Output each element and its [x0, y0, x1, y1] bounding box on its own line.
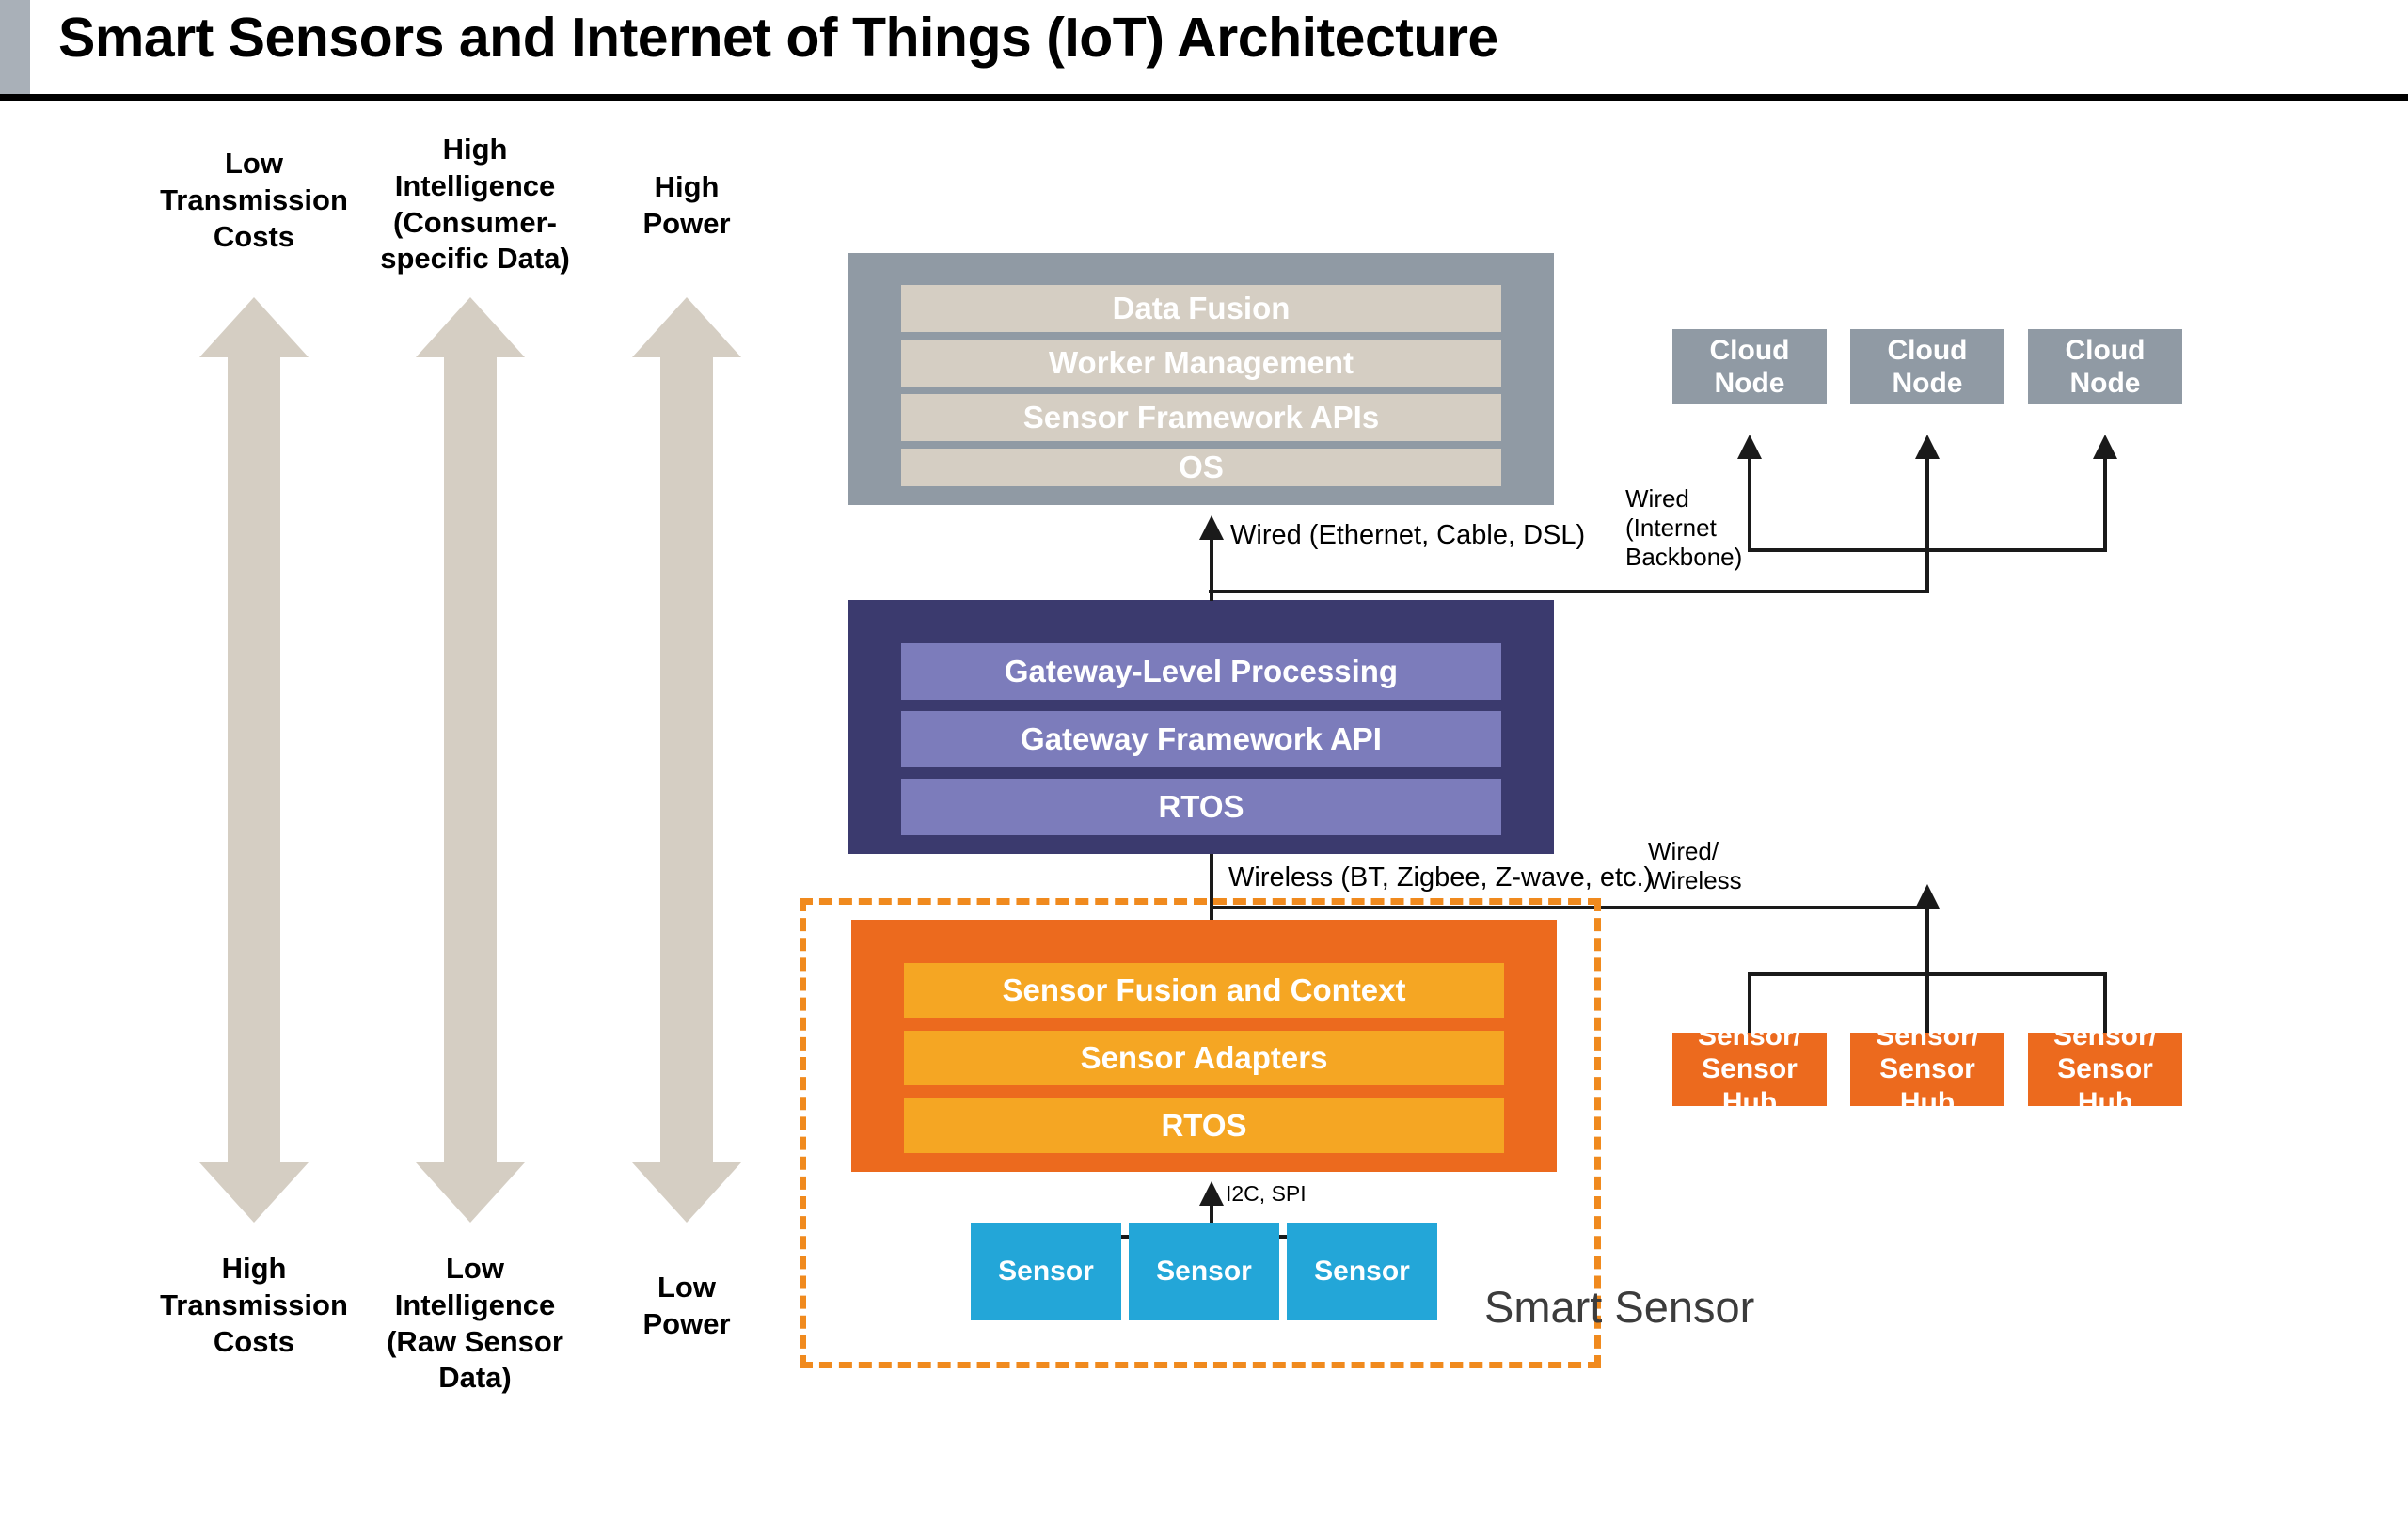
sensor-hub-node-2-line1: Sensor/ — [1876, 1020, 1979, 1051]
sensor-node-2[interactable]: Sensor — [1129, 1223, 1279, 1320]
sensor-hub-node-2-line2: Sensor — [1879, 1053, 1975, 1084]
page-title: Smart Sensors and Internet of Things (Io… — [58, 6, 1498, 70]
sensor-hub-node-1-line3: Hub — [1722, 1087, 1777, 1118]
sensor-hub-node-2-line3: Hub — [1900, 1087, 1955, 1118]
cloud-node-3[interactable]: Cloud Node — [2028, 329, 2182, 404]
cloud-layer-sensor-framework-apis[interactable]: Sensor Framework APIs — [901, 394, 1501, 441]
cloud-node-2-riser — [1925, 457, 1929, 593]
gauge-power-shaft — [660, 356, 713, 1164]
cloud-server-block: Data Fusion Worker Management Sensor Fra… — [848, 253, 1554, 505]
sensor-hub-node-3-line3: Hub — [2078, 1087, 2132, 1118]
sensor-hub-node-1-line2: Sensor — [1702, 1053, 1798, 1084]
cloud-node-3-line1: Cloud — [2066, 335, 2146, 366]
gauge-transmission-costs-shaft — [228, 356, 280, 1164]
slide-canvas: Smart Sensors and Internet of Things (Io… — [0, 0, 2408, 1517]
i2c-spi-arrowhead — [1199, 1181, 1224, 1206]
sensor-hub-node-3-line2: Sensor — [2057, 1053, 2153, 1084]
smart-sensor-caption: Smart Sensor — [1484, 1281, 1754, 1333]
sensor-node-1-label: Sensor — [998, 1255, 1094, 1288]
cloud-node-2-line1: Cloud — [1888, 335, 1968, 366]
smart-sensor-layer-adapters[interactable]: Sensor Adapters — [904, 1031, 1504, 1085]
gauge-power-arrow-down — [632, 1162, 741, 1223]
cloud-node-2-line2: Node — [1892, 368, 1962, 399]
sensor-hub-node-2[interactable]: Sensor/ Sensor Hub — [1850, 1033, 2004, 1106]
gauge-intelligence-shaft — [444, 356, 497, 1164]
gauge-power-bottom-label: LowPower — [583, 1270, 790, 1343]
gateway-block: Gateway-Level Processing Gateway Framewo… — [848, 600, 1554, 854]
cloud-node-1-line2: Node — [1714, 368, 1784, 399]
cloud-node-3-line2: Node — [2069, 368, 2140, 399]
internet-backbone-horizontal — [1209, 590, 1929, 593]
cloud-node-1-riser — [1748, 457, 1751, 550]
gauge-intelligence-arrow-up — [416, 297, 525, 357]
sensor-hub-node-3[interactable]: Sensor/ Sensor Hub — [2028, 1033, 2182, 1106]
label-wired-ethernet: Wired (Ethernet, Cable, DSL) — [1230, 519, 1585, 552]
label-wired-wireless: Wired/Wireless — [1648, 837, 1742, 895]
cloud-node-1[interactable]: Cloud Node — [1672, 329, 1827, 404]
cloud-node-2-arrowhead — [1915, 435, 1940, 459]
cloud-node-2[interactable]: Cloud Node — [1850, 329, 2004, 404]
cloud-layer-data-fusion[interactable]: Data Fusion — [901, 285, 1501, 332]
sensor-node-1[interactable]: Sensor — [971, 1223, 1121, 1320]
gauge-intelligence-arrow-down — [416, 1162, 525, 1223]
sensor-hub-node-3-line1: Sensor/ — [2053, 1020, 2157, 1051]
gauge-intelligence-top-label: HighIntelligence(Consumer-specific Data) — [348, 132, 602, 277]
title-bar: Smart Sensors and Internet of Things (Io… — [0, 0, 2408, 98]
cloud-node-1-line1: Cloud — [1710, 335, 1790, 366]
sensor-node-2-label: Sensor — [1156, 1255, 1252, 1288]
label-wired-internet-backbone: Wired(InternetBackbone) — [1625, 484, 1742, 573]
sensor-node-3-label: Sensor — [1314, 1255, 1410, 1288]
gateway-to-cloud-trunk — [1210, 590, 1213, 601]
gauge-intelligence-bottom-label: LowIntelligence(Raw SensorData) — [348, 1251, 602, 1397]
title-accent-bar — [0, 0, 30, 95]
hub-uplink-riser — [1925, 906, 1929, 976]
gateway-layer-rtos[interactable]: RTOS — [901, 779, 1501, 835]
cloud-node-3-arrowhead — [2093, 435, 2117, 459]
label-i2c-spi: I2C, SPI — [1226, 1181, 1307, 1208]
label-wireless-protocols: Wireless (BT, Zigbee, Z-wave, etc.) — [1228, 861, 1653, 894]
gauge-transmission-costs-arrow-down — [199, 1162, 309, 1223]
gauge-transmission-costs-arrow-up — [199, 297, 309, 357]
cloud-node-3-riser — [2103, 457, 2107, 550]
smart-sensor-layer-rtos[interactable]: RTOS — [904, 1098, 1504, 1153]
title-divider — [0, 94, 2408, 101]
gateway-layer-framework-api[interactable]: Gateway Framework API — [901, 711, 1501, 767]
cloud-layer-os[interactable]: OS — [901, 449, 1501, 486]
cloud-uplink-arrowhead — [1199, 515, 1224, 540]
gauge-power-arrow-up — [632, 297, 741, 357]
cloud-layer-worker-management[interactable]: Worker Management — [901, 340, 1501, 387]
cloud-node-bus — [1748, 548, 2107, 552]
smart-sensor-layer-fusion-context[interactable]: Sensor Fusion and Context — [904, 963, 1504, 1018]
gateway-layer-processing[interactable]: Gateway-Level Processing — [901, 643, 1501, 700]
cloud-node-1-arrowhead — [1737, 435, 1762, 459]
sensor-hub-node-1[interactable]: Sensor/ Sensor Hub — [1672, 1033, 1827, 1106]
sensor-node-3[interactable]: Sensor — [1287, 1223, 1437, 1320]
gauge-power-top-label: HighPower — [583, 169, 790, 243]
sensor-hub-node-1-line1: Sensor/ — [1698, 1020, 1801, 1051]
smart-sensor-block: Sensor Fusion and Context Sensor Adapter… — [851, 920, 1557, 1172]
